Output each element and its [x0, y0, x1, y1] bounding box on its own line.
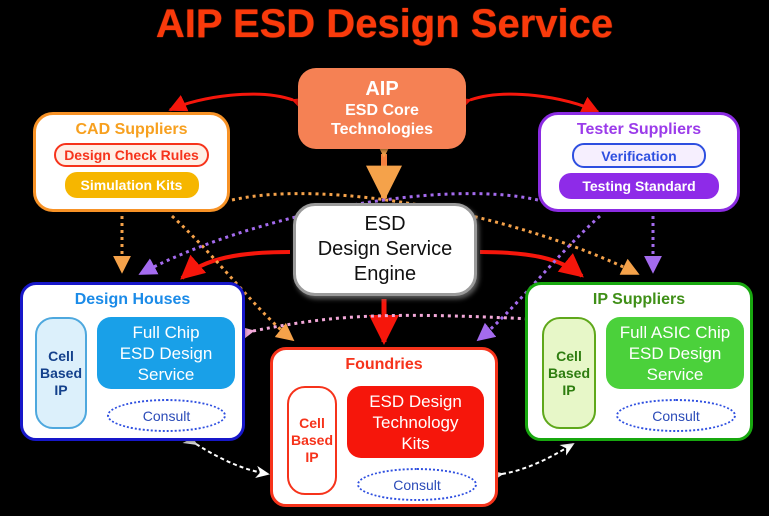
design-houses-consult[interactable]: Consult	[107, 399, 226, 432]
arrow-design-houses-foundries	[196, 444, 268, 474]
cell-ip-line-3: IP	[562, 382, 575, 399]
tester-item-verification[interactable]: Verification	[572, 143, 706, 168]
aip-line-3: Technologies	[331, 120, 433, 139]
node-tester-suppliers[interactable]: Tester Suppliers Verification Testing St…	[538, 112, 740, 212]
foundries-service[interactable]: ESD Design Technology Kits	[347, 386, 484, 458]
service-line-1: Full ASIC Chip	[620, 322, 731, 343]
cell-ip-line-1: Cell	[48, 348, 74, 365]
foundries-header: Foundries	[273, 355, 495, 374]
engine-line-2: Design Service	[318, 237, 453, 262]
design-houses-header: Design Houses	[23, 290, 242, 309]
service-line-2: Technology	[372, 412, 458, 433]
page-title: AIP ESD Design Service	[0, 2, 769, 47]
cell-ip-line-1: Cell	[556, 348, 582, 365]
cell-ip-line-2: Based	[548, 365, 590, 382]
tester-suppliers-header: Tester Suppliers	[577, 120, 701, 139]
service-line-1: ESD Design	[369, 391, 462, 412]
engine-line-1: ESD	[364, 212, 405, 237]
node-design-houses[interactable]: Design Houses Cell Based IP Full Chip ES…	[20, 282, 245, 441]
service-line-2: ESD Design	[629, 343, 722, 364]
arrow-aip-cad	[170, 94, 293, 110]
cell-ip-line-3: IP	[54, 382, 67, 399]
foundries-cell-based-ip[interactable]: Cell Based IP	[287, 386, 337, 495]
design-houses-service[interactable]: Full Chip ESD Design Service	[97, 317, 235, 389]
tester-item-testing-standard[interactable]: Testing Standard	[559, 173, 719, 199]
aip-line-1: AIP	[365, 78, 398, 101]
node-cad-suppliers[interactable]: CAD Suppliers Design Check Rules Simulat…	[33, 112, 230, 212]
service-line-3: Service	[647, 364, 704, 385]
cell-ip-line-1: Cell	[299, 415, 325, 432]
service-line-3: Kits	[401, 433, 429, 454]
design-houses-cell-based-ip[interactable]: Cell Based IP	[35, 317, 87, 429]
ip-suppliers-consult[interactable]: Consult	[616, 399, 736, 432]
diagram-canvas: AIP ESD Design Service	[0, 0, 769, 516]
aip-line-2: ESD Core	[345, 101, 419, 120]
cell-ip-line-2: Based	[291, 432, 333, 449]
node-aip[interactable]: AIP ESD Core Technologies	[298, 68, 466, 149]
service-line-3: Service	[138, 364, 195, 385]
arrow-engine-design-houses	[182, 252, 290, 278]
engine-line-3: Engine	[354, 262, 416, 287]
node-esd-design-service-engine[interactable]: ESD Design Service Engine	[293, 203, 477, 296]
foundries-consult[interactable]: Consult	[357, 468, 477, 501]
cell-ip-line-2: Based	[40, 365, 82, 382]
node-foundries[interactable]: Foundries Cell Based IP ESD Design Techn…	[270, 347, 498, 507]
cad-suppliers-header: CAD Suppliers	[75, 120, 187, 139]
service-line-1: Full Chip	[132, 322, 199, 343]
arrow-aip-tester	[470, 94, 598, 112]
ip-suppliers-service[interactable]: Full ASIC Chip ESD Design Service	[606, 317, 744, 389]
service-line-2: ESD Design	[120, 343, 213, 364]
node-ip-suppliers[interactable]: IP Suppliers Cell Based IP Full ASIC Chi…	[525, 282, 753, 441]
arrow-foundries-ip-suppliers	[502, 444, 573, 474]
ip-suppliers-cell-based-ip[interactable]: Cell Based IP	[542, 317, 596, 429]
cell-ip-line-3: IP	[305, 449, 318, 466]
ip-suppliers-header: IP Suppliers	[528, 290, 750, 309]
cad-item-design-check-rules[interactable]: Design Check Rules	[54, 143, 209, 167]
arrow-engine-ip-suppliers	[480, 252, 582, 276]
cad-item-simulation-kits[interactable]: Simulation Kits	[65, 172, 199, 198]
